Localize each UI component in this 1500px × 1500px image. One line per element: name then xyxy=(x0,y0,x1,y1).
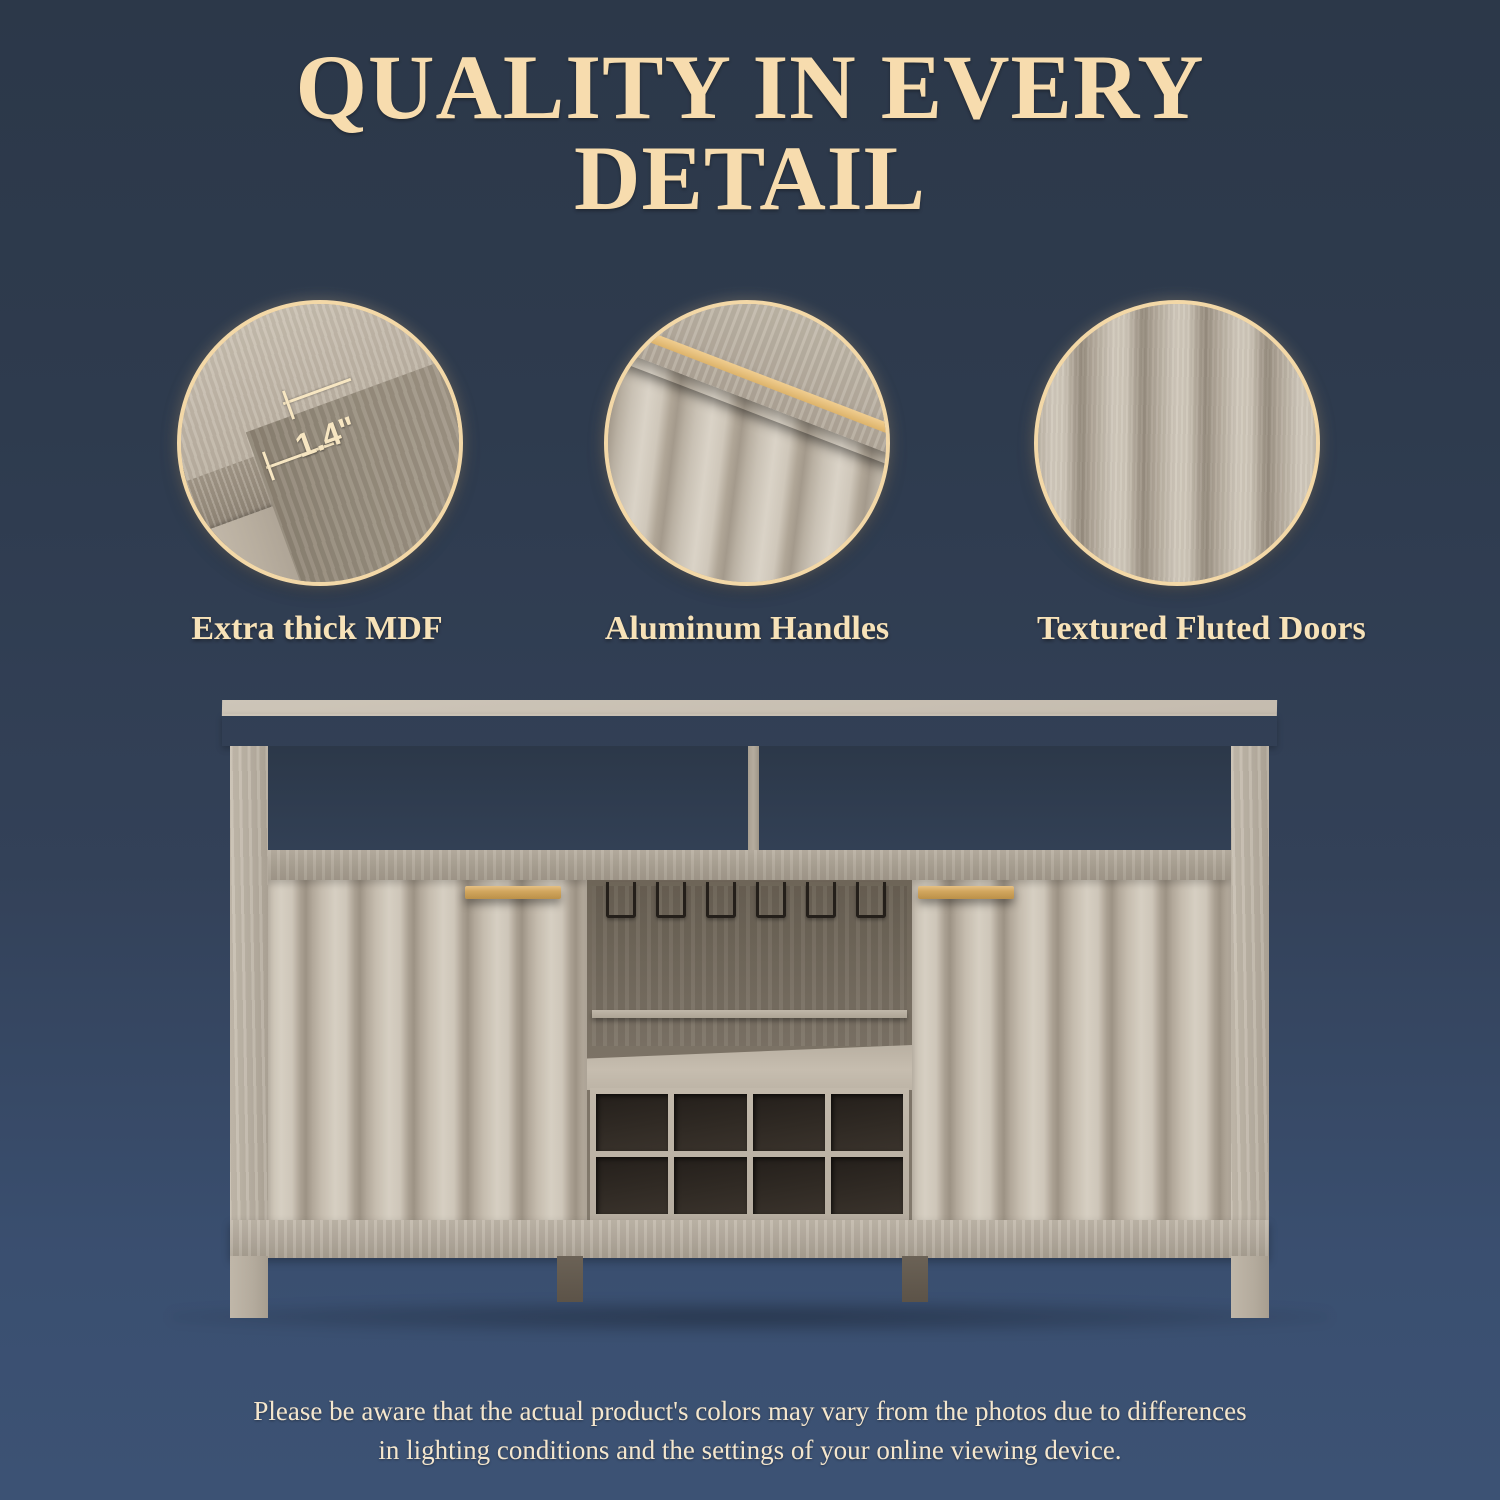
cabinet-top-edge xyxy=(222,714,1277,746)
wine-bottle-cubby xyxy=(831,1157,903,1214)
callout-circle-wrap-2 xyxy=(604,300,890,586)
feature-label-aluminum-handles: Aluminum Handles xyxy=(597,610,897,648)
cabinet-side-panel-left xyxy=(230,746,268,1301)
open-shelf-divider xyxy=(748,746,759,852)
page-title-line-2: DETAIL xyxy=(0,133,1500,224)
wine-bottle-cubby xyxy=(674,1094,746,1151)
stemware-holder-rack xyxy=(600,882,900,920)
feature-callout-aluminum-handles: Aluminum Handles xyxy=(597,300,897,648)
stemware-holder xyxy=(806,882,836,918)
cabinet-foot-left xyxy=(230,1256,268,1318)
wine-bottle-cubby xyxy=(831,1094,903,1151)
cabinet-leg-center-right xyxy=(902,1256,928,1302)
wine-bottle-cubby xyxy=(753,1094,825,1151)
feature-label-textured-fluted-doors: Textured Fluted Doors xyxy=(1037,610,1327,648)
stemware-holder xyxy=(706,882,736,918)
wine-bottle-cubby-grid xyxy=(590,1088,909,1220)
disclaimer-line-1: Please be aware that the actual product'… xyxy=(130,1392,1370,1431)
center-bay-shelf xyxy=(592,1010,907,1018)
aluminum-handle-left[interactable] xyxy=(465,886,561,899)
wine-bottle-cubby xyxy=(674,1157,746,1214)
cabinet-bottom-rail xyxy=(230,1220,1269,1258)
cabinet-foot-right xyxy=(1231,1256,1269,1318)
feature-callout-list: 1.4" Extra thick MDF Aluminum Handles xyxy=(0,300,1500,680)
cabinet-corner-icon: 1.4" xyxy=(177,300,463,586)
fluted-panel-icon xyxy=(1034,300,1320,586)
stemware-holder xyxy=(656,882,686,918)
color-disclaimer: Please be aware that the actual product'… xyxy=(130,1392,1370,1470)
cabinet-leg-center-left xyxy=(557,1256,583,1302)
fluted-door-left[interactable] xyxy=(268,880,587,1252)
wood-grain-overlay xyxy=(1038,304,1316,582)
aluminum-handle-right[interactable] xyxy=(918,886,1014,899)
callout-image-2 xyxy=(608,304,886,582)
callout-circle-wrap-1: 1.4" xyxy=(177,300,463,586)
wine-bottle-cubby xyxy=(596,1157,668,1214)
cabinet-side-panel-right xyxy=(1231,746,1269,1301)
feature-label-extra-thick-mdf: Extra thick MDF xyxy=(164,610,470,648)
wine-bottle-cubby xyxy=(753,1157,825,1214)
page-title-line-1: QUALITY IN EVERY xyxy=(0,42,1500,133)
callout-circle-wrap-3 xyxy=(1034,300,1320,586)
stemware-holder xyxy=(606,882,636,918)
feature-callout-extra-thick-mdf: 1.4" Extra thick MDF xyxy=(170,300,470,648)
disclaimer-line-2: in lighting conditions and the settings … xyxy=(130,1431,1370,1470)
wine-bottle-cubby xyxy=(596,1094,668,1151)
fluted-door-right[interactable] xyxy=(912,880,1231,1252)
callout-image-1: 1.4" xyxy=(181,304,459,582)
stemware-holder xyxy=(756,882,786,918)
feature-callout-textured-fluted-doors: Textured Fluted Doors xyxy=(1027,300,1327,648)
page-title: QUALITY IN EVERY DETAIL xyxy=(0,42,1500,224)
stemware-holder xyxy=(856,882,886,918)
handle-bar-icon xyxy=(604,300,890,586)
open-shelf-floor xyxy=(268,850,1231,880)
product-image xyxy=(212,700,1287,1320)
callout-image-3 xyxy=(1038,304,1316,582)
